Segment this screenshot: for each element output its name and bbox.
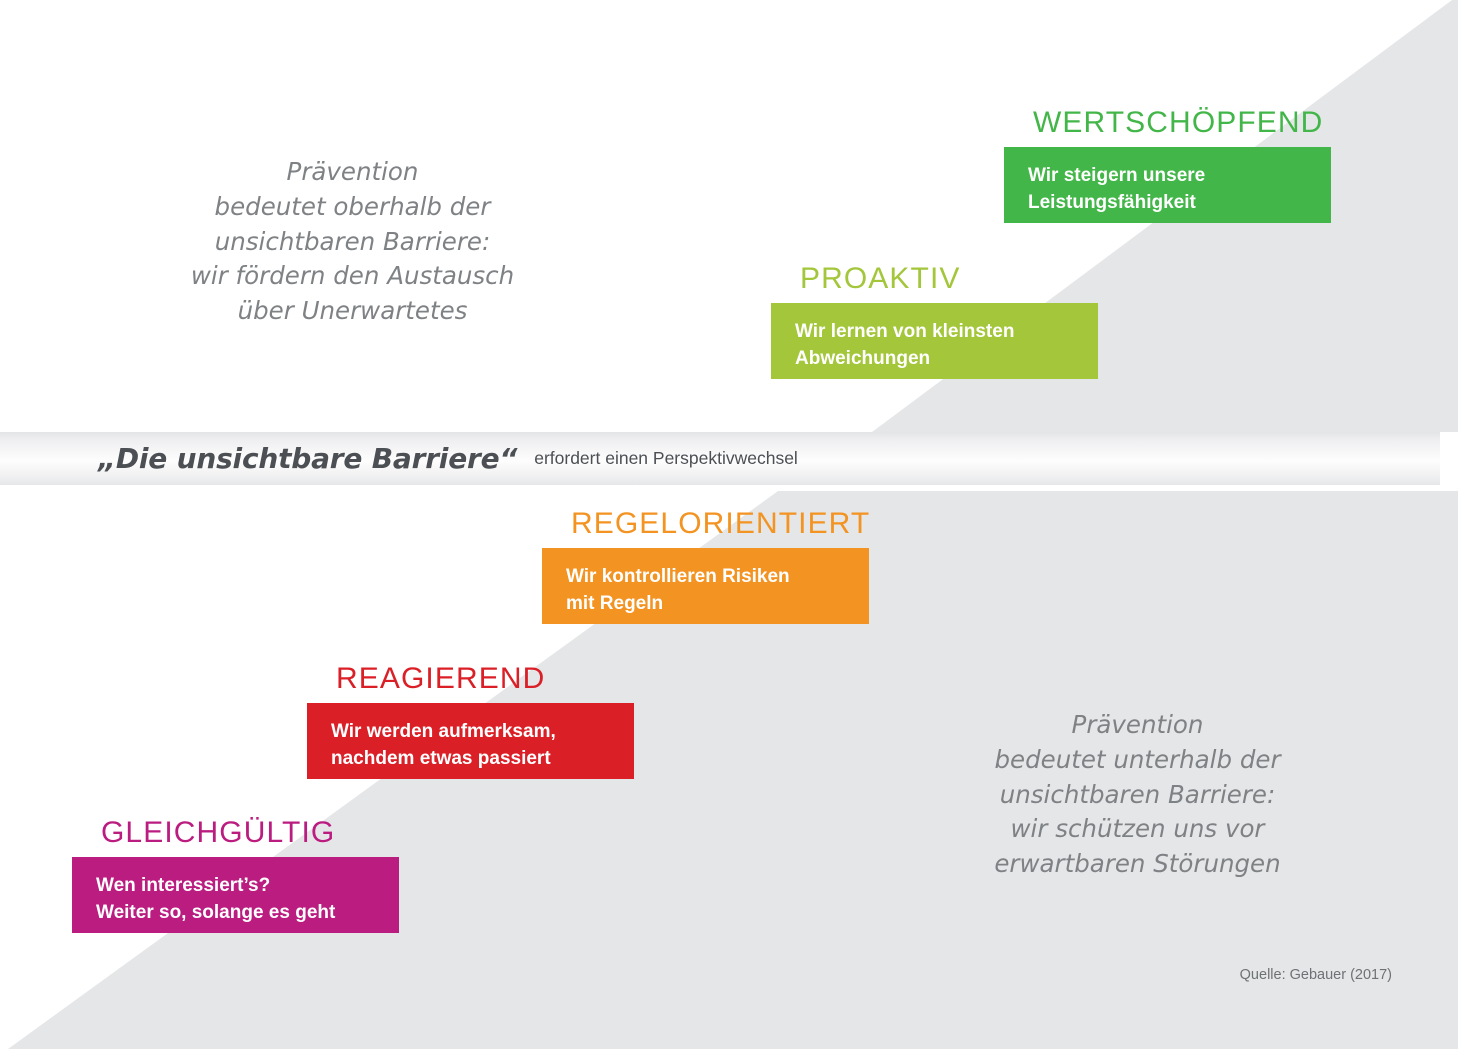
stage-reagierend[interactable]: REAGIEREND Wir werden aufmerksam, nachde… [307,664,634,779]
invisible-barrier-band: „Die unsichtbare Barriere“ erfordert ein… [0,432,1440,485]
barrier-quote-label: „Die unsichtbare Barriere“ [98,442,517,475]
stage-wertschoepfend-box: Wir steigern unsere Leistungsfähigkeit [1004,147,1331,223]
stage-reagierend-box: Wir werden aufmerksam, nachdem etwas pas… [307,703,634,779]
stage-proaktiv-title: PROAKTIV [800,264,1098,294]
explainer-below-barrier: Prävention bedeutet unterhalb der unsich… [930,708,1345,882]
source-note: Quelle: Gebauer (2017) [1240,967,1392,983]
stage-gleichgueltig-title: GLEICHGÜLTIG [101,818,399,848]
stage-wertschoepfend[interactable]: WERTSCHÖPFEND Wir steigern unsere Leistu… [1004,108,1331,223]
stage-gleichgueltig[interactable]: GLEICHGÜLTIG Wen interessiert’s? Weiter … [72,818,399,933]
barrier-subtitle-label: erfordert einen Perspektivwechsel [534,448,798,469]
infographic-canvas: Prävention bedeutet oberhalb der unsicht… [0,0,1458,1049]
explainer-above-barrier: Prävention bedeutet oberhalb der unsicht… [140,155,565,329]
stage-regelorientiert-title: REGELORIENTIERT [571,509,870,539]
stage-proaktiv[interactable]: PROAKTIV Wir lernen von kleinsten Abweic… [771,264,1098,379]
stage-regelorientiert[interactable]: REGELORIENTIERT Wir kontrollieren Risike… [542,509,870,624]
stage-proaktiv-box: Wir lernen von kleinsten Abweichungen [771,303,1098,379]
stage-gleichgueltig-box: Wen interessiert’s? Weiter so, solange e… [72,857,399,933]
stage-wertschoepfend-title: WERTSCHÖPFEND [1033,108,1331,138]
stage-reagierend-title: REAGIEREND [336,664,634,694]
stage-regelorientiert-box: Wir kontrollieren Risiken mit Regeln [542,548,869,624]
